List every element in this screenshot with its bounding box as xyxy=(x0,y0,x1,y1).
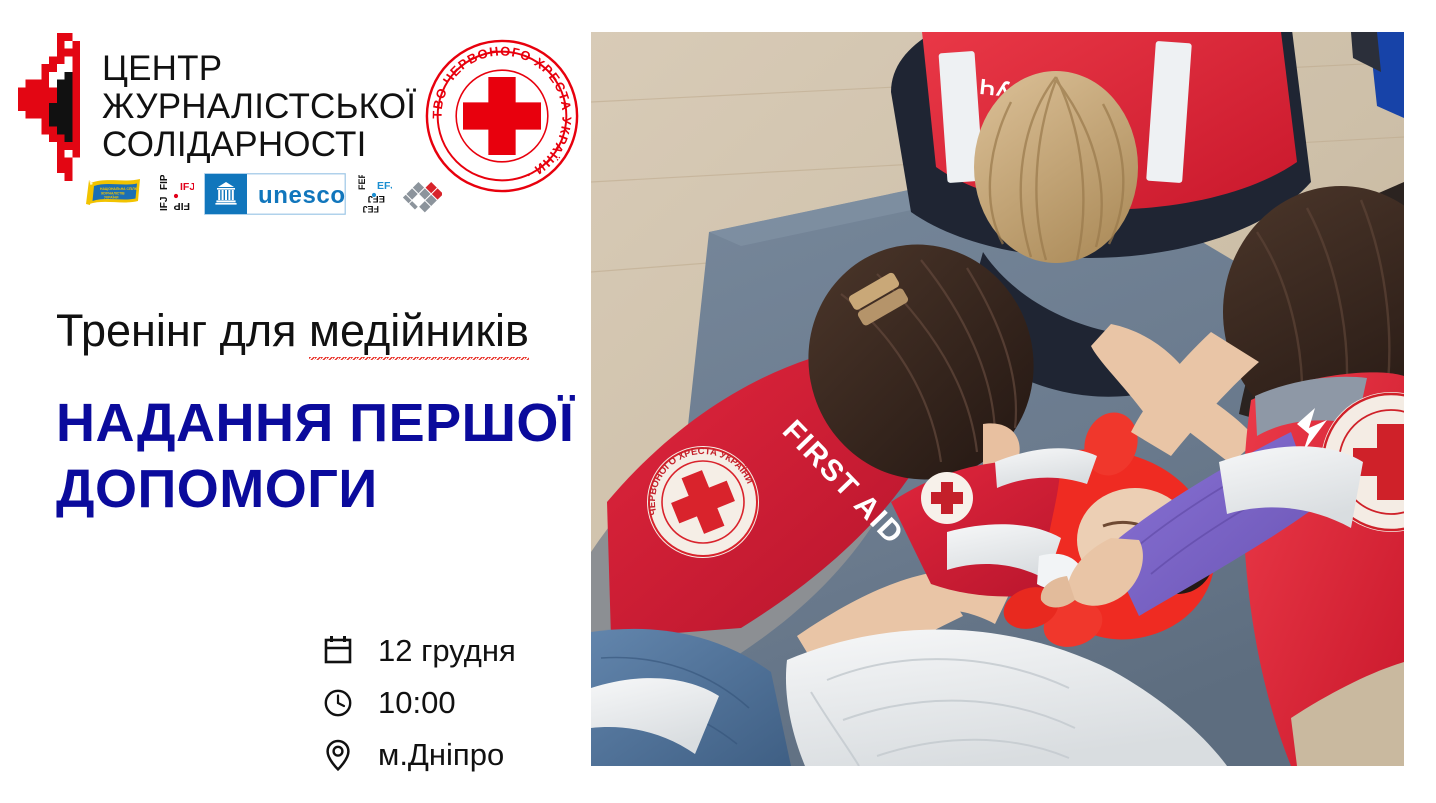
svg-text:IFJ: IFJ xyxy=(159,197,170,211)
svg-text:FEJ: FEJ xyxy=(362,204,379,213)
svg-text:FEP: FEP xyxy=(357,175,367,190)
svg-text:FIP: FIP xyxy=(159,175,170,190)
page-title: НАДАННЯ ПЕРШОЇ ДОПОМОГИ xyxy=(56,390,596,522)
poster-slide: ЦЕНТР ЖУРНАЛІСТСЬКОЇ СОЛІДАРНОСТІ ТОВАРИ… xyxy=(0,0,1436,803)
center-journalist-solidarity-logo: ЦЕНТР ЖУРНАЛІСТСЬКОЇ СОЛІДАРНОСТІ xyxy=(14,28,416,186)
partner-logos: НАЦІОНАЛЬНА СПІЛКА ЖУРНАЛІСТІВ УКРАЇНИ F… xyxy=(80,170,442,218)
org-name-line-3: СОЛІДАРНОСТІ xyxy=(102,126,416,164)
subtitle: Тренінг для медійників xyxy=(56,305,529,357)
red-cross-emblem-icon: ТОВАРИСТВО ЧЕРВОНОГО ХРЕСТА УКРАЇНИ · xyxy=(424,38,580,194)
svg-text:IFJ: IFJ xyxy=(180,181,194,193)
unesco-logo: unesco xyxy=(204,173,346,215)
detail-row-time: 10:00 xyxy=(322,680,516,726)
detail-value-time: 10:00 xyxy=(378,686,456,720)
subtitle-prefix: Тренінг для xyxy=(56,305,309,356)
logo-bar: ЦЕНТР ЖУРНАЛІСТСЬКОЇ СОЛІДАРНОСТІ ТОВАРИ… xyxy=(0,0,590,240)
diamond-partner-logo xyxy=(402,174,442,214)
ifj-fip-logo: FIP IFJ IFJ FIP xyxy=(158,175,194,213)
subtitle-spellchecked-word: медійників xyxy=(309,305,529,360)
svg-text:unesco: unesco xyxy=(258,182,346,209)
svg-text:EFJ: EFJ xyxy=(368,193,385,204)
svg-text:УКРАЇНИ: УКРАЇНИ xyxy=(104,196,119,200)
org-name: ЦЕНТР ЖУРНАЛІСТСЬКОЇ СОЛІДАРНОСТІ xyxy=(102,50,416,164)
event-details: 12 грудня 10:00 м.Дніпро xyxy=(322,628,516,778)
svg-text:НАЦІОНАЛЬНА СПІЛКА: НАЦІОНАЛЬНА СПІЛКА xyxy=(100,187,140,191)
detail-row-date: 12 грудня xyxy=(322,628,516,674)
efj-fej-logo: FEP EFJ EFJ FEJ xyxy=(356,175,392,213)
clock-icon xyxy=(322,686,354,720)
embroidery-ornament-icon xyxy=(14,28,88,186)
detail-row-location: м.Дніпро xyxy=(322,732,516,778)
detail-value-date: 12 грудня xyxy=(378,634,516,668)
org-name-line-1: ЦЕНТР xyxy=(102,50,416,88)
svg-text:FIP: FIP xyxy=(174,200,190,212)
org-name-line-2: ЖУРНАЛІСТСЬКОЇ xyxy=(102,88,416,126)
nsju-flag-logo: НАЦІОНАЛЬНА СПІЛКА ЖУРНАЛІСТІВ УКРАЇНИ xyxy=(80,174,148,214)
calendar-icon xyxy=(322,634,354,668)
first-aid-training-photo: МИ ПОРУЧ ЧЕРВОНОГО ХРЕСТА xyxy=(591,32,1404,766)
location-pin-icon xyxy=(322,738,354,772)
detail-value-location: м.Дніпро xyxy=(378,738,504,772)
svg-text:EFJ: EFJ xyxy=(377,180,392,192)
